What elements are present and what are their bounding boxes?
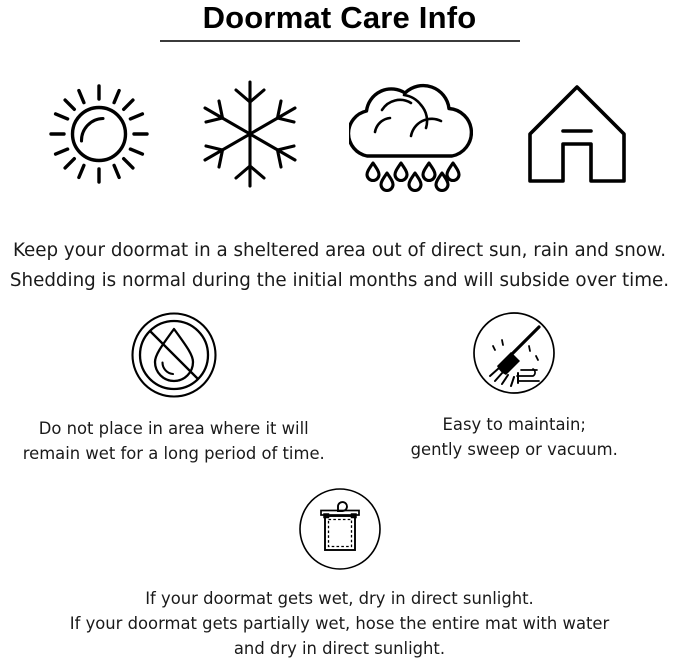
- rain-cloud-icon: [349, 76, 473, 196]
- broom-icon: [473, 312, 555, 398]
- hanging-mat-icon: [299, 488, 381, 574]
- page-header: Doormat Care Info: [0, 0, 679, 42]
- title-underline: [160, 40, 520, 42]
- sun-icon: [46, 78, 152, 194]
- page-title: Doormat Care Info: [0, 0, 679, 35]
- care-item-sweep: Easy to maintain; gently sweep or vacuum…: [340, 312, 679, 466]
- care-caption-no-water: Do not place in area where it will remai…: [23, 416, 325, 466]
- weather-icon-row: [0, 72, 679, 200]
- snowflake-icon: [200, 76, 300, 196]
- care-caption-sweep: Easy to maintain; gently sweep or vacuum…: [411, 412, 618, 462]
- care-item-no-water: Do not place in area where it will remai…: [0, 312, 340, 466]
- no-water-icon: [131, 312, 217, 402]
- care-instructions-row: Do not place in area where it will remai…: [0, 312, 679, 466]
- house-icon: [521, 78, 633, 194]
- intro-paragraph: Keep your doormat in a sheltered area ou…: [0, 236, 679, 296]
- drying-caption: If your doormat gets wet, dry in direct …: [70, 586, 609, 661]
- drying-instructions: If your doormat gets wet, dry in direct …: [0, 488, 679, 661]
